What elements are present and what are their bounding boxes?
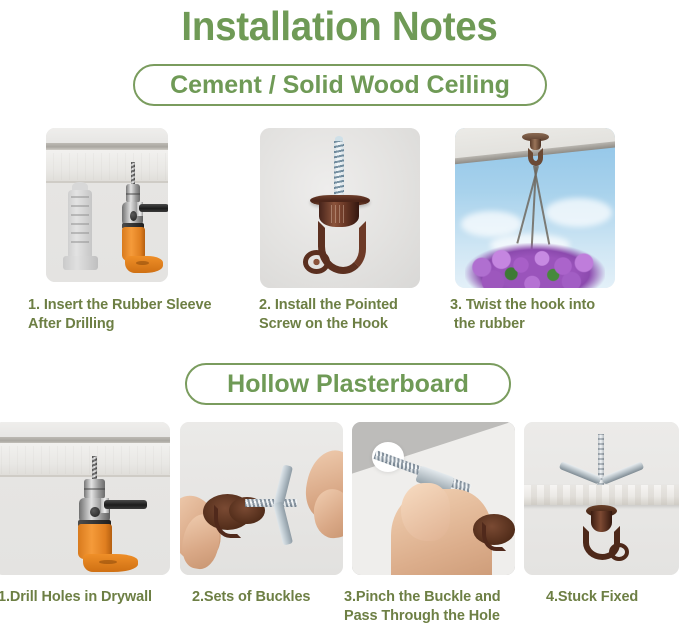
- toggle-wing-left: [558, 461, 601, 485]
- scene-stuck-fixed: [524, 422, 679, 575]
- page-title: Installation Notes: [20, 0, 658, 52]
- toggle-wing-right: [601, 461, 644, 485]
- step-caption-7: 4.Stuck Fixed: [546, 588, 679, 607]
- scene-pinch-buckle: [352, 422, 515, 575]
- ceiling-top-edge: [46, 128, 168, 145]
- drill-bit: [92, 456, 97, 482]
- anchor-body: [68, 190, 92, 257]
- drill-chuck: [126, 184, 140, 203]
- drill-side-handle: [139, 204, 168, 212]
- step-caption-line: 2.Sets of Buckles: [192, 588, 352, 607]
- step-caption-line: 4.Stuck Fixed: [546, 588, 679, 607]
- anchor-collar: [63, 256, 98, 270]
- step-caption-line: After Drilling: [28, 315, 253, 334]
- hook-arm: [482, 522, 506, 551]
- step-image-hook-with-toggle-bolt-buckle-set: [180, 422, 343, 575]
- drill-knob: [130, 211, 137, 221]
- flower-basket: [465, 243, 606, 288]
- step-caption-1: 1. Insert the Rubber Sleeve After Drilli…: [28, 296, 253, 334]
- installation-notes-infographic: Installation Notes Cement / Solid Wood C…: [0, 0, 679, 627]
- step-caption-3: 3. Twist the hook into the rubber: [450, 296, 650, 334]
- hook-curl-tip: [303, 250, 330, 274]
- scene-hanging-basket: [455, 128, 615, 288]
- cloud-shape: [461, 211, 522, 237]
- bronze-hook-flange: [229, 486, 265, 535]
- scene-hook-on-wall: [260, 128, 420, 288]
- drill-grip: [125, 256, 163, 273]
- ceiling-top-edge: [0, 422, 170, 439]
- step-image-hanging-flower-basket-on-ceiling-hook: [455, 128, 615, 288]
- step-image-drill-holes-in-drywall: [0, 422, 170, 575]
- scene-drywall-drill: [0, 422, 170, 575]
- pointed-screw: [334, 141, 344, 199]
- step-caption-line: 3.Pinch the Buckle and: [344, 588, 524, 607]
- step-caption-line: 2. Install the Pointed: [259, 296, 449, 315]
- step-caption-line: the rubber: [450, 315, 650, 334]
- drill-bit: [131, 162, 134, 186]
- section-badge-cement-solid-wood-ceiling: Cement / Solid Wood Ceiling: [133, 64, 547, 106]
- bronze-ceiling-hook: [522, 133, 549, 168]
- step-image-bronze-ceiling-hook-with-pointed-screw: [260, 128, 420, 288]
- purple-petunia-flowers: [465, 243, 606, 288]
- drill-chuck: [84, 479, 105, 499]
- step-image-drill-into-ceiling-with-rubber-sleeve: [46, 128, 168, 282]
- plasterboard-panel: [524, 485, 679, 505]
- hook-curl-tip: [609, 543, 629, 561]
- step-caption-6: 3.Pinch the Buckle and Pass Through the …: [344, 588, 524, 626]
- step-image-toggle-bolt-opened-behind-board: [524, 422, 679, 575]
- step-caption-2: 2. Install the Pointed Screw on the Hook: [259, 296, 449, 334]
- drill-grip: [83, 554, 138, 571]
- bronze-hook: [473, 502, 515, 557]
- step-caption-line: 3. Twist the hook into: [450, 296, 650, 315]
- hook-curve: [528, 148, 544, 166]
- power-drill: [47, 456, 146, 572]
- step-caption-line: Screw on the Hook: [259, 315, 449, 334]
- drill-side-handle: [104, 500, 147, 509]
- scene-ceiling-drill: [46, 128, 168, 282]
- step-caption-5: 2.Sets of Buckles: [192, 588, 352, 607]
- rubber-sleeve-anchor: [68, 190, 92, 270]
- step-caption-line: Pass Through the Hole: [344, 607, 524, 626]
- section-badge-hollow-plasterboard: Hollow Plasterboard: [185, 363, 511, 405]
- step-caption-line: 1. Insert the Rubber Sleeve: [28, 296, 253, 315]
- hanger-wire: [516, 166, 538, 244]
- scene-buckle-set: [180, 422, 343, 575]
- power-drill: [100, 162, 168, 273]
- step-caption-line: 1.Drill Holes in Drywall: [0, 588, 178, 607]
- cloud-shape: [545, 198, 612, 227]
- toggle-wing-lower: [273, 501, 293, 545]
- toggle-bolt-rod: [245, 499, 297, 507]
- step-image-pinch-buckle-into-hole: [352, 422, 515, 575]
- step-caption-4: 1.Drill Holes in Drywall: [0, 588, 178, 607]
- thumb: [401, 483, 450, 541]
